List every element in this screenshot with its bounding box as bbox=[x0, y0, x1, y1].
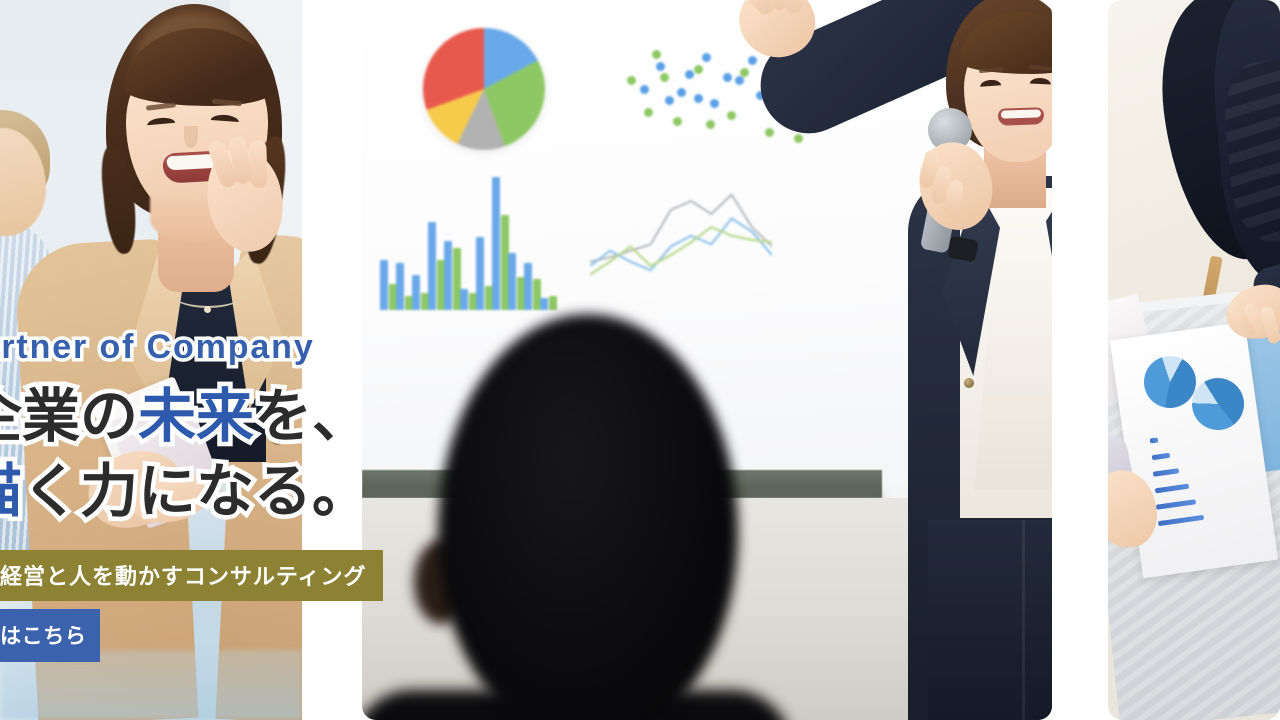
slide-bar-chart bbox=[380, 168, 560, 310]
scatter-point bbox=[794, 134, 803, 143]
foreground-audience bbox=[362, 300, 1052, 720]
scatter-point bbox=[665, 96, 674, 105]
scatter-point bbox=[677, 88, 686, 97]
hero-headline-line-1: 企業の未来を、 bbox=[0, 382, 460, 453]
scatter-point bbox=[727, 111, 736, 120]
hero-copy: Partner of Company 企業の未来を、 描く力になる。 経営と人を… bbox=[0, 330, 460, 662]
hero-image-right bbox=[1108, 0, 1280, 720]
scatter-point bbox=[656, 62, 665, 71]
scatter-point bbox=[660, 73, 669, 82]
audience-head-blurred bbox=[438, 314, 738, 720]
bar bbox=[492, 177, 500, 310]
woman-finger bbox=[249, 140, 268, 189]
line-series bbox=[590, 218, 772, 270]
scatter-point bbox=[673, 117, 682, 126]
scatter-point bbox=[685, 70, 694, 79]
scatter-point bbox=[702, 53, 711, 62]
hero-headline-line-2: 描く力になる。 bbox=[0, 457, 460, 528]
scatter-point bbox=[735, 76, 744, 85]
slide-line-chart bbox=[590, 186, 772, 294]
scatter-point bbox=[640, 85, 649, 94]
bar bbox=[428, 222, 436, 310]
scatter-point bbox=[706, 120, 715, 129]
headline-text-post: を、 bbox=[254, 384, 370, 449]
scatter-point bbox=[710, 99, 719, 108]
scatter-point bbox=[765, 128, 774, 137]
hero-cta-button[interactable]: はこちら bbox=[0, 609, 100, 662]
hero-eyebrow: Partner of Company bbox=[0, 330, 460, 364]
headline-text-highlight: 未来 bbox=[138, 384, 254, 449]
woman-nose bbox=[184, 126, 198, 148]
bar bbox=[476, 237, 484, 310]
scatter-point bbox=[748, 56, 757, 65]
presenter-smile bbox=[998, 107, 1045, 126]
hero-banner: Partner of Company 企業の未来を、 描く力になる。 経営と人を… bbox=[0, 0, 1280, 720]
scatter-point bbox=[723, 73, 732, 82]
scatter-point bbox=[694, 94, 703, 103]
scatter-point bbox=[627, 76, 636, 85]
necklace-pendant bbox=[204, 306, 211, 313]
scatter-point bbox=[694, 65, 703, 74]
line-series bbox=[590, 227, 772, 275]
headline2-text-post: く力になる。 bbox=[22, 459, 370, 524]
headline2-text-highlight: 描 bbox=[0, 459, 22, 524]
scatter-point bbox=[652, 50, 661, 59]
headline-text-pre: 企業の bbox=[0, 384, 138, 449]
scatter-point bbox=[644, 108, 653, 117]
scatter-point bbox=[740, 68, 749, 77]
hero-image-center bbox=[362, 0, 1052, 720]
hero-tagline-badge: 経営と人を動かすコンサルティング bbox=[0, 550, 383, 601]
slide-pie-chart bbox=[423, 28, 545, 150]
